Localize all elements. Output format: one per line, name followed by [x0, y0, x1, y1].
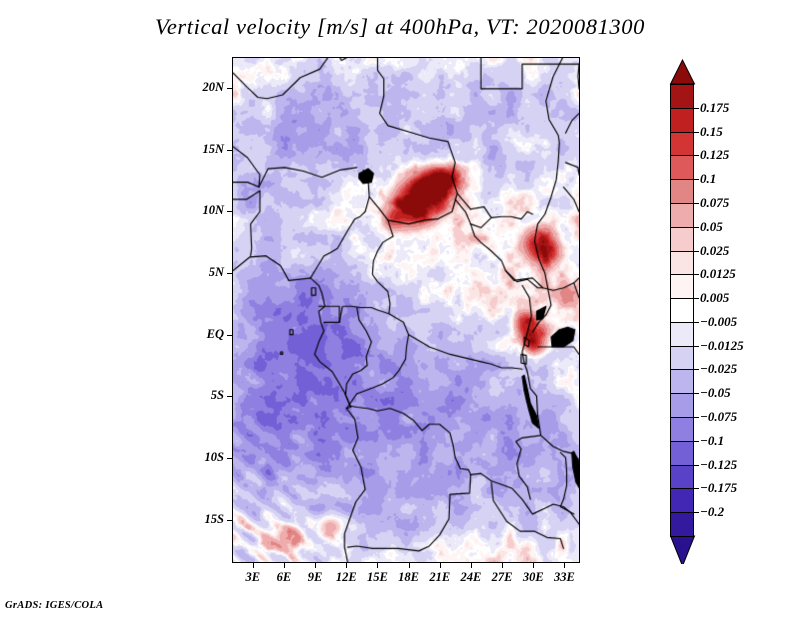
colorbar-band — [670, 298, 694, 323]
colorbar-tick — [694, 298, 699, 299]
x-axis-tick — [284, 563, 285, 568]
colorbar-tick-label: −0.025 — [700, 362, 737, 375]
colorbar-band — [670, 108, 694, 133]
colorbar-tick — [694, 488, 699, 489]
y-axis-label: 20N — [180, 80, 224, 95]
colorbar-tick-label: 0.005 — [700, 291, 729, 304]
colorbar-tick — [694, 441, 699, 442]
colorbar-tick — [694, 227, 699, 228]
colorbar-band — [670, 251, 694, 276]
colorbar-band — [670, 84, 694, 109]
colorbar-tick — [694, 322, 699, 323]
map-frame — [232, 57, 580, 563]
colorbar-band — [670, 274, 694, 299]
vertical-velocity-heatmap — [233, 58, 579, 562]
x-axis-tick — [409, 563, 410, 568]
colorbar-band — [670, 346, 694, 371]
y-axis-tick — [227, 211, 232, 212]
colorbar-tick — [694, 465, 699, 466]
map-panel — [232, 57, 580, 563]
colorbar-tick-label: −0.125 — [700, 458, 737, 471]
x-axis-tick — [533, 563, 534, 568]
x-axis-tick — [440, 563, 441, 568]
y-axis-tick — [227, 273, 232, 274]
y-axis-tick — [227, 458, 232, 459]
colorbar-band — [670, 417, 694, 442]
colorbar-band — [670, 203, 694, 228]
y-axis-label: EQ — [180, 327, 224, 342]
y-axis-tick — [227, 335, 232, 336]
colorbar: 0.1750.150.1250.10.0750.050.0250.01250.0… — [668, 58, 798, 564]
colorbar-tick-label: −0.1 — [700, 434, 724, 447]
colorbar-band — [670, 488, 694, 513]
colorbar-tick-label: 0.1 — [700, 172, 716, 185]
colorbar-tick-label: −0.005 — [700, 315, 737, 328]
colorbar-tick — [694, 512, 699, 513]
x-axis-label: 33E — [544, 570, 584, 585]
y-axis-tick — [227, 88, 232, 89]
colorbar-tick-label: 0.175 — [700, 101, 729, 114]
y-axis-label: 10N — [180, 203, 224, 218]
colorbar-tick — [694, 251, 699, 252]
y-axis-label: 10S — [180, 450, 224, 465]
x-axis-tick — [377, 563, 378, 568]
y-axis-tick — [227, 150, 232, 151]
colorbar-extend-arrow — [671, 536, 695, 564]
y-axis-tick — [227, 396, 232, 397]
colorbar-band — [670, 393, 694, 418]
colorbar-tick — [694, 179, 699, 180]
colorbar-band — [670, 369, 694, 394]
colorbar-band — [670, 322, 694, 347]
colorbar-tick — [694, 155, 699, 156]
y-axis-label: 5N — [180, 265, 224, 280]
colorbar-tick-label: −0.0125 — [700, 339, 744, 352]
page-title: Vertical velocity [m/s] at 400hPa, VT: 2… — [0, 14, 800, 40]
colorbar-tick — [694, 108, 699, 109]
y-axis-tick — [227, 520, 232, 521]
colorbar-tick — [694, 369, 699, 370]
colorbar-tick — [694, 203, 699, 204]
colorbar-tick — [694, 132, 699, 133]
x-axis-tick — [253, 563, 254, 568]
colorbar-band — [670, 132, 694, 157]
colorbar-tick-label: −0.05 — [700, 386, 731, 399]
colorbar-tick-label: −0.075 — [700, 410, 737, 423]
y-axis-label: 15S — [180, 512, 224, 527]
x-axis-tick — [315, 563, 316, 568]
colorbar-tick — [694, 417, 699, 418]
colorbar-tick-label: 0.05 — [700, 220, 723, 233]
grads-credit: GrADS: IGES/COLA — [5, 600, 103, 611]
x-axis-tick — [502, 563, 503, 568]
colorbar-tick-label: −0.2 — [700, 505, 724, 518]
colorbar-band — [670, 465, 694, 490]
colorbar-tick-label: 0.075 — [700, 196, 729, 209]
x-axis-tick — [346, 563, 347, 568]
grads-plot-canvas: Vertical velocity [m/s] at 400hPa, VT: 2… — [0, 0, 800, 618]
colorbar-tick-label: 0.15 — [700, 125, 723, 138]
colorbar-band — [670, 441, 694, 466]
colorbar-band — [670, 227, 694, 252]
x-axis-tick — [564, 563, 565, 568]
colorbar-tick — [694, 393, 699, 394]
colorbar-tick-label: 0.0125 — [700, 267, 736, 280]
colorbar-tick — [694, 274, 699, 275]
colorbar-extend-arrow — [671, 60, 695, 84]
colorbar-tick-label: 0.125 — [700, 148, 729, 161]
colorbar-tick-label: −0.175 — [700, 481, 737, 494]
colorbar-band — [670, 179, 694, 204]
colorbar-tick — [694, 346, 699, 347]
y-axis-label: 15N — [180, 142, 224, 157]
colorbar-tick-label: 0.025 — [700, 244, 729, 257]
y-axis-label: 5S — [180, 388, 224, 403]
x-axis-tick — [471, 563, 472, 568]
colorbar-band — [670, 512, 694, 537]
colorbar-band — [670, 155, 694, 180]
